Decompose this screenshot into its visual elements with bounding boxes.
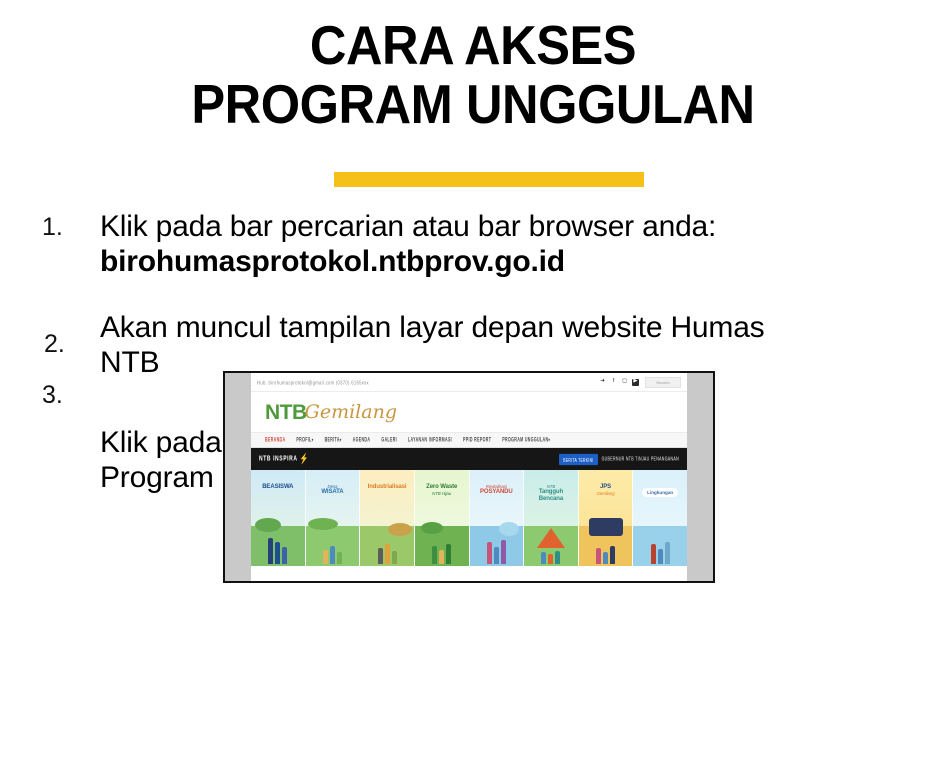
nav-item-berita[interactable]: BERITA▾ bbox=[325, 437, 342, 444]
banner-illustration bbox=[360, 544, 414, 564]
youtube-icon[interactable]: ▶ bbox=[632, 379, 639, 386]
step-line: Klik pada bar percarian atau bar browser… bbox=[100, 209, 946, 244]
banner-title: BEASISWA bbox=[260, 484, 295, 491]
nav-item-ppid-report[interactable]: PPID REPORT bbox=[463, 437, 491, 444]
banner-jps-gemilang[interactable]: JPS Gemilang bbox=[579, 470, 634, 566]
facebook-icon[interactable]: f bbox=[610, 379, 617, 386]
program-banner-row: BEASISWA Desa WISATA bbox=[251, 470, 687, 566]
logo-text-primary: NTB bbox=[265, 402, 307, 423]
ticker-brand-label: NTB INSPIRA bbox=[259, 455, 298, 464]
page-title: CARA AKSES PROGRAM UNGGULAN bbox=[38, 0, 908, 135]
banner-title: Zero Waste NTB Hijau bbox=[424, 484, 459, 496]
list-item: 2. Akan muncul tampilan layar depan webs… bbox=[0, 310, 946, 381]
banner-illustration bbox=[524, 551, 578, 564]
site-logo[interactable]: NTB Gemilang bbox=[251, 392, 687, 432]
chevron-down-icon: ▾ bbox=[548, 437, 550, 444]
nav-item-layanan-informasi[interactable]: LAYANAN INFORMASI bbox=[408, 437, 452, 444]
banner-desa-wisata[interactable]: Desa WISATA bbox=[306, 470, 361, 566]
banner-illustration bbox=[415, 544, 469, 564]
chevron-down-icon: ▾ bbox=[312, 437, 314, 444]
status-badge: BERITA TERKINI bbox=[559, 453, 597, 464]
step-number: 3. bbox=[42, 383, 63, 408]
volcano-icon bbox=[537, 528, 565, 548]
ticker-headline[interactable]: GUBERNUR NTB TINJAU PENANGANAN bbox=[602, 456, 679, 462]
banner-title: Desa WISATA bbox=[319, 484, 345, 496]
instagram-icon[interactable]: ◻ bbox=[621, 379, 628, 386]
banner-title: Revitalisasi POSYANDU bbox=[478, 484, 515, 496]
banner-title: NTB Tangguh Bencana bbox=[524, 484, 578, 503]
step-text: Akan muncul tampilan layar depan website… bbox=[100, 310, 946, 381]
logo-text-script: Gemilang bbox=[305, 403, 397, 422]
title-accent-rule bbox=[334, 172, 644, 187]
banner-illustration bbox=[579, 546, 633, 564]
banner-posyandu[interactable]: Revitalisasi POSYANDU bbox=[470, 470, 525, 566]
banner-illustration bbox=[251, 538, 305, 564]
banner-illustration bbox=[306, 546, 360, 564]
steps-list: 1. Klik pada bar percarian atau bar brow… bbox=[0, 205, 946, 381]
banner-lingkungan[interactable]: Lingkungan bbox=[633, 470, 687, 566]
nav-item-galeri[interactable]: GALERI bbox=[381, 437, 397, 444]
banner-tangguh-bencana[interactable]: NTB Tangguh Bencana bbox=[524, 470, 579, 566]
banner-title: Industrialisasi bbox=[366, 484, 409, 491]
contact-info: Hub. birohumasprotokol@gmail.com (0370) … bbox=[257, 379, 599, 386]
banner-industrialisasi[interactable]: Industrialisasi bbox=[360, 470, 415, 566]
nav-item-program-unggulan[interactable]: PROGRAM UNGGULAN▾ bbox=[502, 437, 550, 444]
screenshot-backdrop: Hub. birohumasprotokol@gmail.com (0370) … bbox=[225, 373, 713, 581]
nav-item-beranda[interactable]: BERANDA bbox=[265, 437, 285, 444]
site-top-bar: Hub. birohumasprotokol@gmail.com (0370) … bbox=[251, 373, 687, 392]
twitter-icon[interactable]: ➜ bbox=[599, 379, 606, 386]
step-number: 2. bbox=[44, 332, 65, 357]
website-screenshot: Hub. birohumasprotokol@gmail.com (0370) … bbox=[223, 371, 715, 583]
step-line: Akan muncul tampilan layar depan website… bbox=[100, 310, 946, 345]
banner-beasiswa[interactable]: BEASISWA bbox=[251, 470, 306, 566]
banner-illustration bbox=[633, 542, 687, 564]
banner-title: Lingkungan bbox=[642, 488, 678, 497]
lightning-icon: ⚡ bbox=[300, 453, 309, 465]
banner-illustration bbox=[470, 540, 524, 564]
nav-item-profil[interactable]: PROFIL▾ bbox=[296, 437, 313, 444]
title-line-1: CARA AKSES bbox=[38, 16, 908, 75]
news-ticker-bar: NTB INSPIRA ⚡ BERITA TERKINI GUBERNUR NT… bbox=[251, 448, 687, 470]
banner-title: JPS Gemilang bbox=[595, 484, 617, 496]
ticker-brand: NTB INSPIRA ⚡ bbox=[259, 453, 309, 465]
search-input[interactable]: Search bbox=[645, 377, 681, 388]
banner-zero-waste[interactable]: Zero Waste NTB Hijau bbox=[415, 470, 470, 566]
ticker-content: BERITA TERKINI GUBERNUR NTB TINJAU PENAN… bbox=[559, 456, 679, 463]
social-links: ➜ f ◻ ▶ bbox=[599, 379, 639, 386]
site-navigation: BERANDA PROFIL▾ BERITA▾ AGENDA GALERI LA… bbox=[251, 432, 687, 448]
chevron-down-icon: ▾ bbox=[340, 437, 342, 444]
nav-item-agenda[interactable]: AGENDA bbox=[353, 437, 371, 444]
list-item: 1. Klik pada bar percarian atau bar brow… bbox=[0, 205, 946, 280]
title-line-2: PROGRAM UNGGULAN bbox=[38, 75, 908, 134]
website-page: Hub. birohumasprotokol@gmail.com (0370) … bbox=[251, 373, 687, 581]
step-number: 1. bbox=[42, 215, 63, 240]
step-text: Klik pada bar percarian atau bar browser… bbox=[100, 205, 946, 280]
step-url: birohumasprotokol.ntbprov.go.id bbox=[100, 244, 946, 279]
truck-icon bbox=[589, 518, 623, 536]
